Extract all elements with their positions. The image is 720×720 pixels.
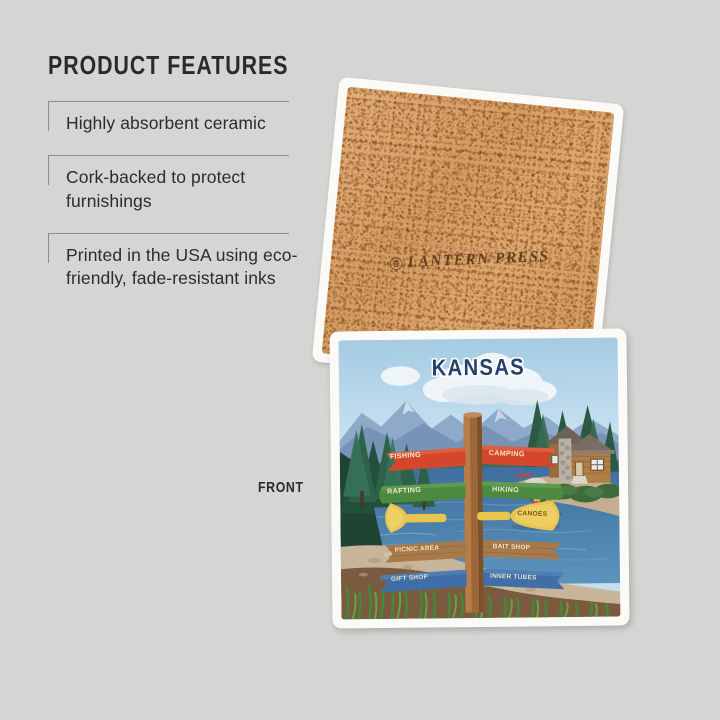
view-label-front: FRONT <box>258 479 304 496</box>
brand-stamp: LANTERN PRESS <box>389 248 549 273</box>
feature-item: Highly absorbent ceramic <box>48 101 298 135</box>
artwork-title: KANSAS <box>355 353 601 383</box>
feature-item: Cork-backed to protect furnishings <box>48 155 298 213</box>
feature-text: Highly absorbent ceramic <box>66 112 298 135</box>
brand-name: LANTERN PRESS <box>407 248 549 272</box>
feature-item: Printed in the USA using eco-friendly, f… <box>48 233 298 291</box>
feature-text: Cork-backed to protect furnishings <box>66 166 298 213</box>
page-title: PRODUCT FEATURES <box>48 50 253 81</box>
lantern-icon <box>389 257 403 271</box>
coaster-front-view: KANSAS FISHING CAMPING RAFTING HIKING CA… <box>329 328 629 628</box>
product-features-panel: PRODUCT FEATURES Highly absorbent cerami… <box>48 50 298 290</box>
feature-text: Printed in the USA using eco-friendly, f… <box>66 244 298 291</box>
coaster-artwork: KANSAS FISHING CAMPING RAFTING HIKING CA… <box>339 338 621 620</box>
